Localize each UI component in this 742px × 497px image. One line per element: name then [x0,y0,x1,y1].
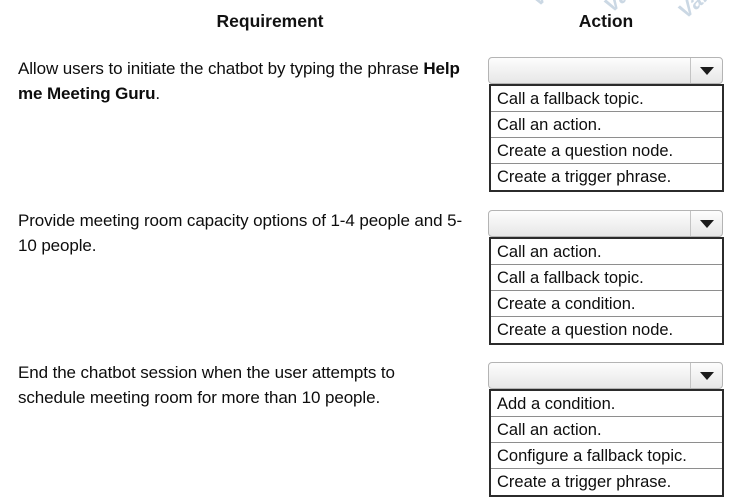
chevron-down-glyph [700,67,714,75]
list-item[interactable]: Create a condition. [491,291,722,317]
action-option-list-2[interactable]: Call an action. Call a fallback topic. C… [489,237,724,345]
requirement-text-3: End the chatbot session when the user at… [18,360,466,410]
action-dropdown-2-value [489,211,690,236]
chevron-down-icon[interactable] [690,58,722,83]
question-content: Requirement Action Allow users to initia… [0,0,742,496]
list-item[interactable]: Create a trigger phrase. [491,164,722,190]
action-option-list-1[interactable]: Call a fallback topic. Call an action. C… [489,84,724,192]
list-item[interactable]: Configure a fallback topic. [491,443,722,469]
action-option-list-3[interactable]: Add a condition. Call an action. Configu… [489,389,724,497]
action-dropdown-2[interactable] [488,210,723,237]
requirement-text-1-suffix: . [155,84,160,103]
list-item[interactable]: Create a trigger phrase. [491,469,722,495]
list-item[interactable]: Add a condition. [491,391,722,417]
requirement-text-3-prefix: End the chatbot session when the user at… [18,363,395,407]
list-item[interactable]: Call a fallback topic. [491,265,722,291]
list-item[interactable]: Call an action. [491,239,722,265]
chevron-down-glyph [700,220,714,228]
action-dropdown-3[interactable] [488,362,723,389]
column-header-requirement: Requirement [120,11,420,32]
action-dropdown-1[interactable] [488,57,723,84]
list-item[interactable]: Create a question node. [491,317,722,343]
column-header-action: Action [490,11,722,32]
action-dropdown-1-value [489,58,690,83]
list-item[interactable]: Create a question node. [491,138,722,164]
chevron-down-icon[interactable] [690,211,722,236]
chevron-down-glyph [700,372,714,380]
requirement-text-1-prefix: Allow users to initiate the chatbot by t… [18,59,423,78]
list-item[interactable]: Call a fallback topic. [491,86,722,112]
requirement-text-1: Allow users to initiate the chatbot by t… [18,56,466,106]
chevron-down-icon[interactable] [690,363,722,388]
requirement-text-2-prefix: Provide meeting room capacity options of… [18,211,462,255]
action-dropdown-3-value [489,363,690,388]
requirement-text-2: Provide meeting room capacity options of… [18,208,466,258]
list-item[interactable]: Call an action. [491,417,722,443]
list-item[interactable]: Call an action. [491,112,722,138]
